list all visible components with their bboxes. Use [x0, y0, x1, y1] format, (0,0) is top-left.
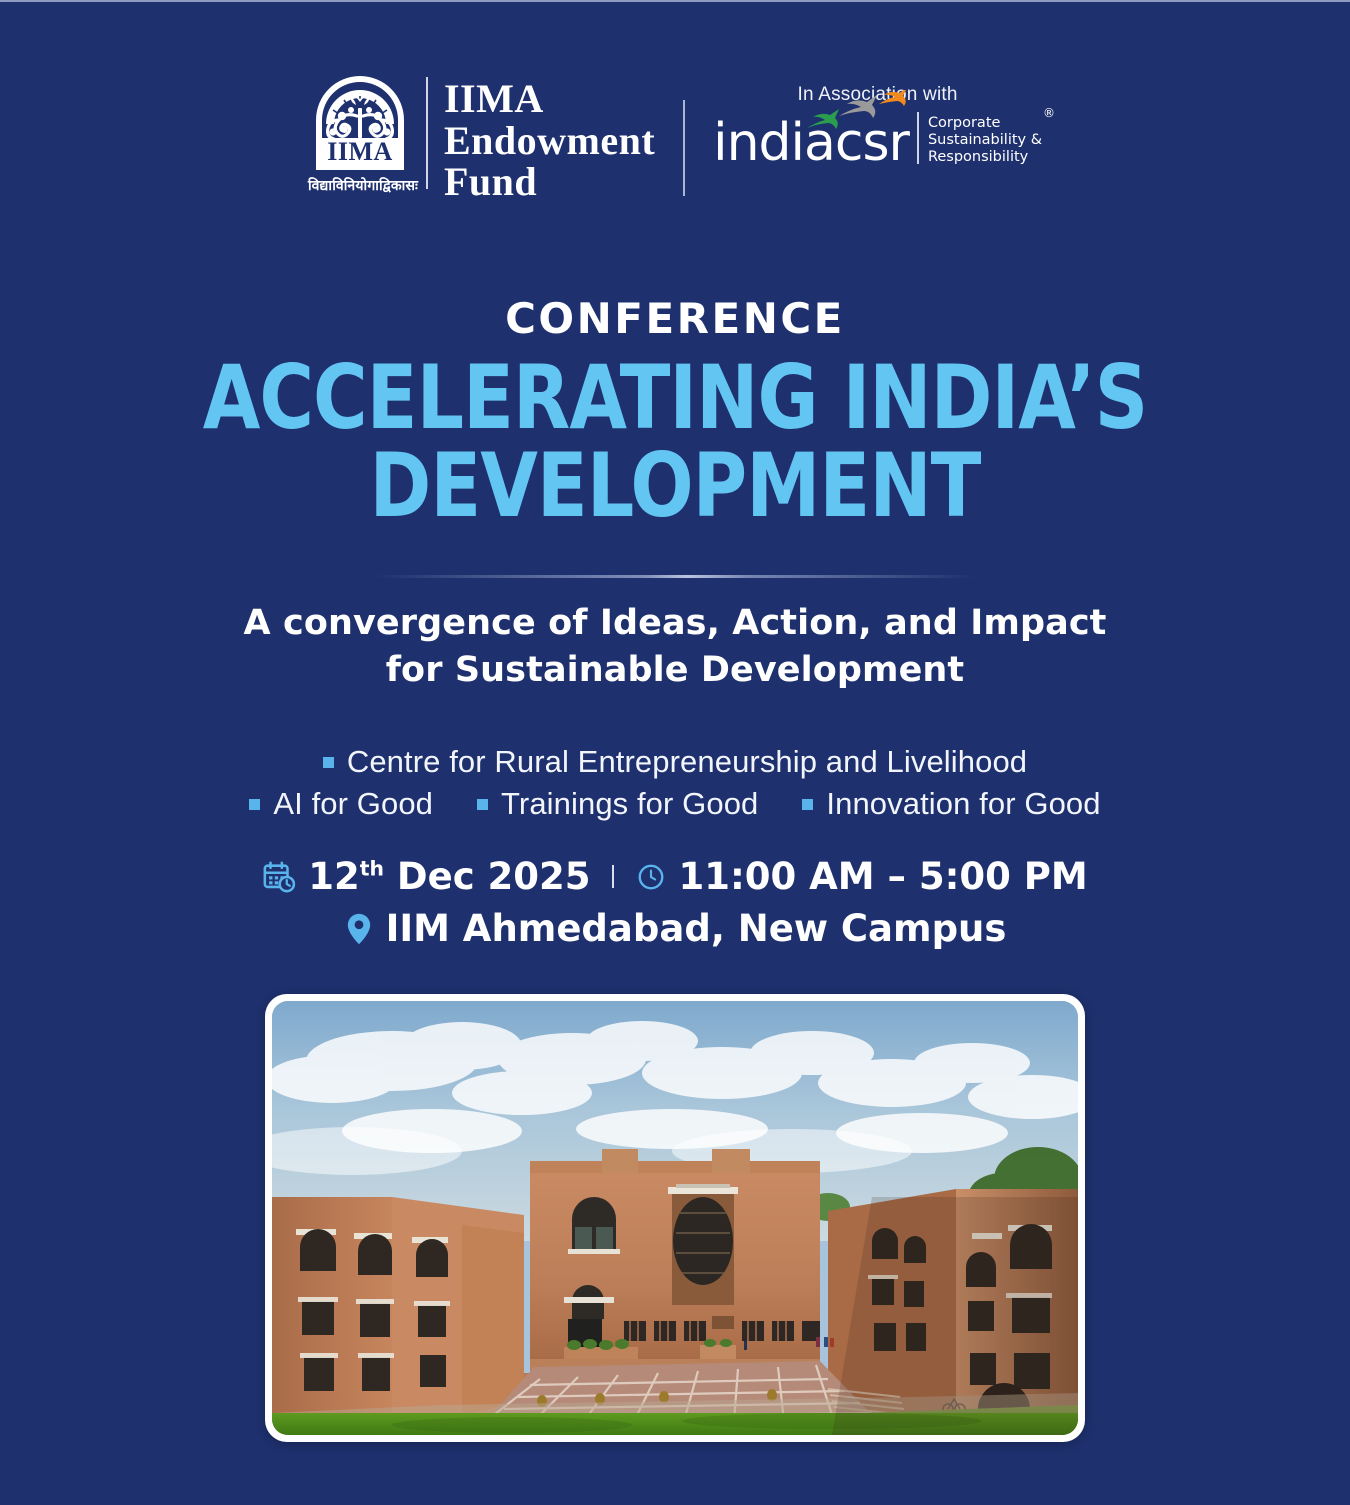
iima-endowment-fund-logo: IIMA विद्याविनियोगाद्विकासः IIMA Endowme…	[308, 72, 655, 203]
event-date-ordinal: th	[360, 857, 384, 881]
campus-illustration	[272, 1001, 1078, 1435]
event-time: 11:00 AM – 5:00 PM	[636, 855, 1087, 898]
track-label: AI for Good	[273, 786, 433, 822]
bullet-square-icon	[323, 757, 334, 768]
track-label: Trainings for Good	[501, 786, 758, 822]
registered-trademark-icon: ®	[1043, 106, 1055, 120]
bullet-square-icon	[477, 799, 488, 810]
event-details: 12th Dec 2025 11:00 AM – 5:00 PM	[0, 855, 1350, 950]
event-date: 12th Dec 2025	[262, 855, 590, 898]
track-item: AI for Good	[249, 786, 433, 822]
iima-wordmark-line2: Endowment	[444, 120, 655, 162]
iima-seal-icon: IIMA	[308, 72, 412, 172]
event-date-day: 12	[308, 855, 360, 898]
partner-logo-block: In Association with indiacsr ®	[713, 72, 1042, 168]
iim-ahmedabad-campus-photo-frame	[265, 994, 1085, 1442]
logo-divider	[426, 77, 428, 189]
iima-wordmark-line1: IIMA	[444, 78, 655, 120]
association-divider	[683, 100, 685, 196]
event-venue-text: IIM Ahmedabad, New Campus	[386, 907, 1007, 950]
indiacsr-logo: indiacsr ® Corporate Sustainability & Re…	[713, 112, 1042, 168]
event-subtitle-line1: A convergence of Ideas, Action, and Impa…	[0, 600, 1350, 647]
iim-ahmedabad-campus-photo	[272, 1001, 1078, 1435]
iima-seal-wrapper: IIMA विद्याविनियोगाद्विकासः	[308, 72, 412, 195]
clock-icon	[636, 862, 666, 892]
iima-wordmark: IIMA Endowment Fund	[444, 72, 655, 203]
track-list: Centre for Rural Entrepreneurship and Li…	[0, 744, 1350, 828]
conference-poster: IIMA विद्याविनियोगाद्विकासः IIMA Endowme…	[0, 0, 1350, 1505]
event-subtitle-line2: for Sustainable Development	[0, 647, 1350, 694]
track-row-1: Centre for Rural Entrepreneurship and Li…	[0, 744, 1350, 780]
page-title: ACCELERATING INDIA’S DEVELOPMENT	[41, 354, 1310, 530]
page-title-line2: DEVELOPMENT	[41, 442, 1310, 530]
svg-text:IIMA: IIMA	[327, 137, 393, 166]
logo-bar: IIMA विद्याविनियोगाद्विकासः IIMA Endowme…	[0, 72, 1350, 217]
event-details-row-1: 12th Dec 2025 11:00 AM – 5:00 PM	[0, 855, 1350, 898]
event-venue: IIM Ahmedabad, New Campus	[344, 907, 1007, 950]
track-item: Innovation for Good	[802, 786, 1100, 822]
event-details-row-2: IIM Ahmedabad, New Campus	[0, 907, 1350, 950]
event-subtitle: A convergence of Ideas, Action, and Impa…	[0, 600, 1350, 694]
event-date-text: 12th Dec 2025	[308, 855, 590, 898]
event-date-rest: Dec 2025	[384, 855, 590, 898]
bullet-square-icon	[249, 799, 260, 810]
track-label: Innovation for Good	[826, 786, 1100, 822]
indiacsr-tagline: ® Corporate Sustainability & Responsibil…	[928, 115, 1042, 168]
iima-wordmark-line3: Fund	[444, 161, 655, 203]
indiacsr-birds-icon	[801, 90, 921, 141]
event-kicker: CONFERENCE	[0, 294, 1350, 343]
track-item: Trainings for Good	[477, 786, 758, 822]
track-label: Centre for Rural Entrepreneurship and Li…	[347, 744, 1027, 780]
bullet-square-icon	[802, 799, 813, 810]
track-row-2: AI for Good Trainings for Good Innovatio…	[0, 786, 1350, 822]
indiacsr-tagline-line3: Responsibility	[928, 149, 1042, 166]
indiacsr-tagline-line2: Sustainability &	[928, 132, 1042, 149]
indiacsr-tagline-line1: Corporate	[928, 115, 1042, 132]
track-item: Centre for Rural Entrepreneurship and Li…	[323, 744, 1027, 780]
iima-sanskrit-motto: विद्याविनियोगाद्विकासः	[308, 176, 412, 195]
details-separator	[612, 865, 614, 888]
event-time-text: 11:00 AM – 5:00 PM	[678, 855, 1087, 898]
calendar-clock-icon	[262, 860, 296, 894]
title-divider	[375, 575, 975, 578]
location-pin-icon	[344, 912, 374, 946]
